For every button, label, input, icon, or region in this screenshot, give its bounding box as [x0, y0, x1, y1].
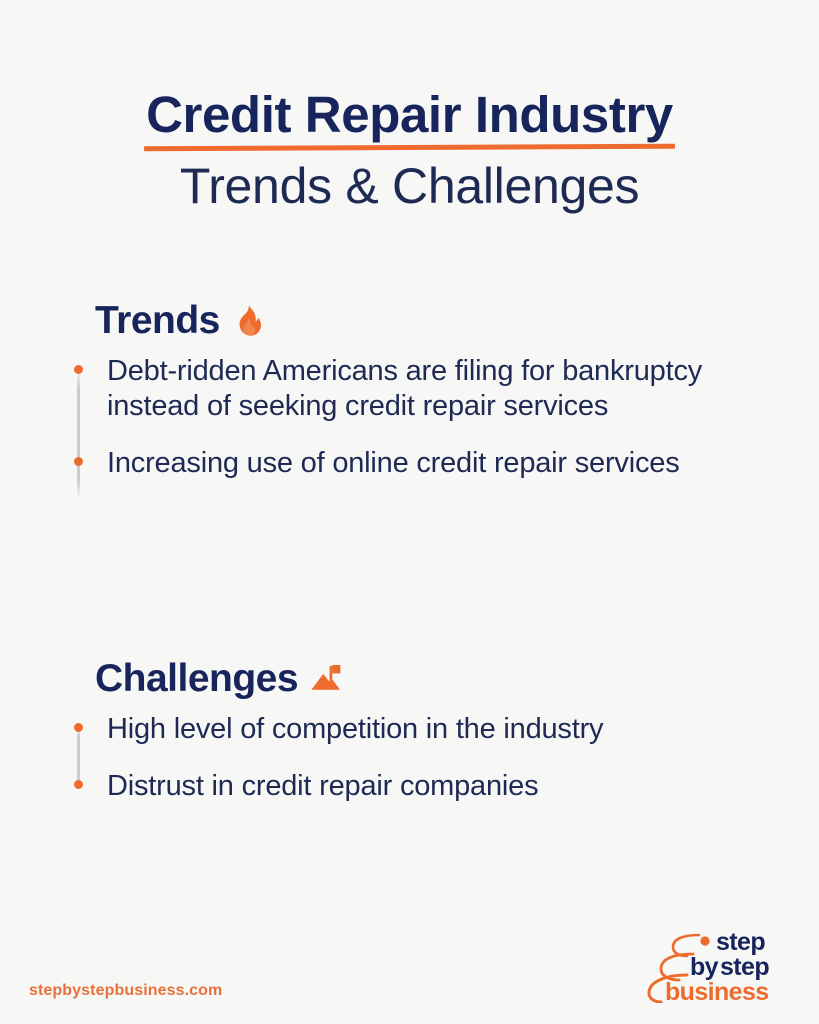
section-challenges-header: Challenges [95, 656, 800, 702]
list-item: Debt-ridden Americans are filing for ban… [70, 354, 800, 424]
mountain-flag-icon [310, 662, 342, 696]
list-item: Distrust in credit repair companies [70, 769, 800, 804]
bullet-dot-icon [74, 723, 83, 732]
logo-line-2b: step [720, 953, 769, 981]
page-subtitle: Trends & Challenges [0, 156, 819, 216]
list-item-text: Debt-ridden Americans are filing for ban… [107, 354, 717, 424]
list-item-text: High level of competition in the industr… [107, 712, 797, 747]
list-item: High level of competition in the industr… [70, 712, 800, 747]
challenges-bullet-list: High level of competition in the industr… [70, 712, 800, 804]
list-item-text: Distrust in credit repair companies [107, 769, 797, 804]
step-by-step-business-logo[interactable]: step by step business [643, 925, 795, 1003]
list-item: Increasing use of online credit repair s… [70, 446, 800, 481]
list-item-text: Increasing use of online credit repair s… [107, 446, 717, 481]
page-title: Credit Repair Industry [146, 84, 673, 146]
section-trends-header: Trends [95, 298, 800, 344]
section-challenges-title: Challenges [95, 657, 298, 701]
section-trends-title: Trends [95, 299, 220, 343]
logo-line-3: business [665, 978, 769, 1003]
section-trends: Trends Debt-ridden Americans are filing … [70, 298, 800, 481]
logo-line-2a: by [690, 953, 719, 981]
infographic-canvas: Credit Repair Industry Trends & Challeng… [0, 0, 819, 1024]
fire-icon [232, 304, 264, 338]
title-main-wrap: Credit Repair Industry [146, 84, 673, 146]
section-challenges: Challenges High level of competition in … [70, 656, 800, 804]
bullet-dot-icon [74, 780, 83, 789]
title-block: Credit Repair Industry Trends & Challeng… [0, 84, 819, 216]
bullet-dot-icon [74, 457, 83, 466]
bullet-dot-icon [74, 365, 83, 374]
logo-line-1: step [716, 928, 765, 956]
site-url-text[interactable]: stepbystepbusiness.com [29, 982, 222, 1000]
trends-bullet-list: Debt-ridden Americans are filing for ban… [70, 354, 800, 481]
